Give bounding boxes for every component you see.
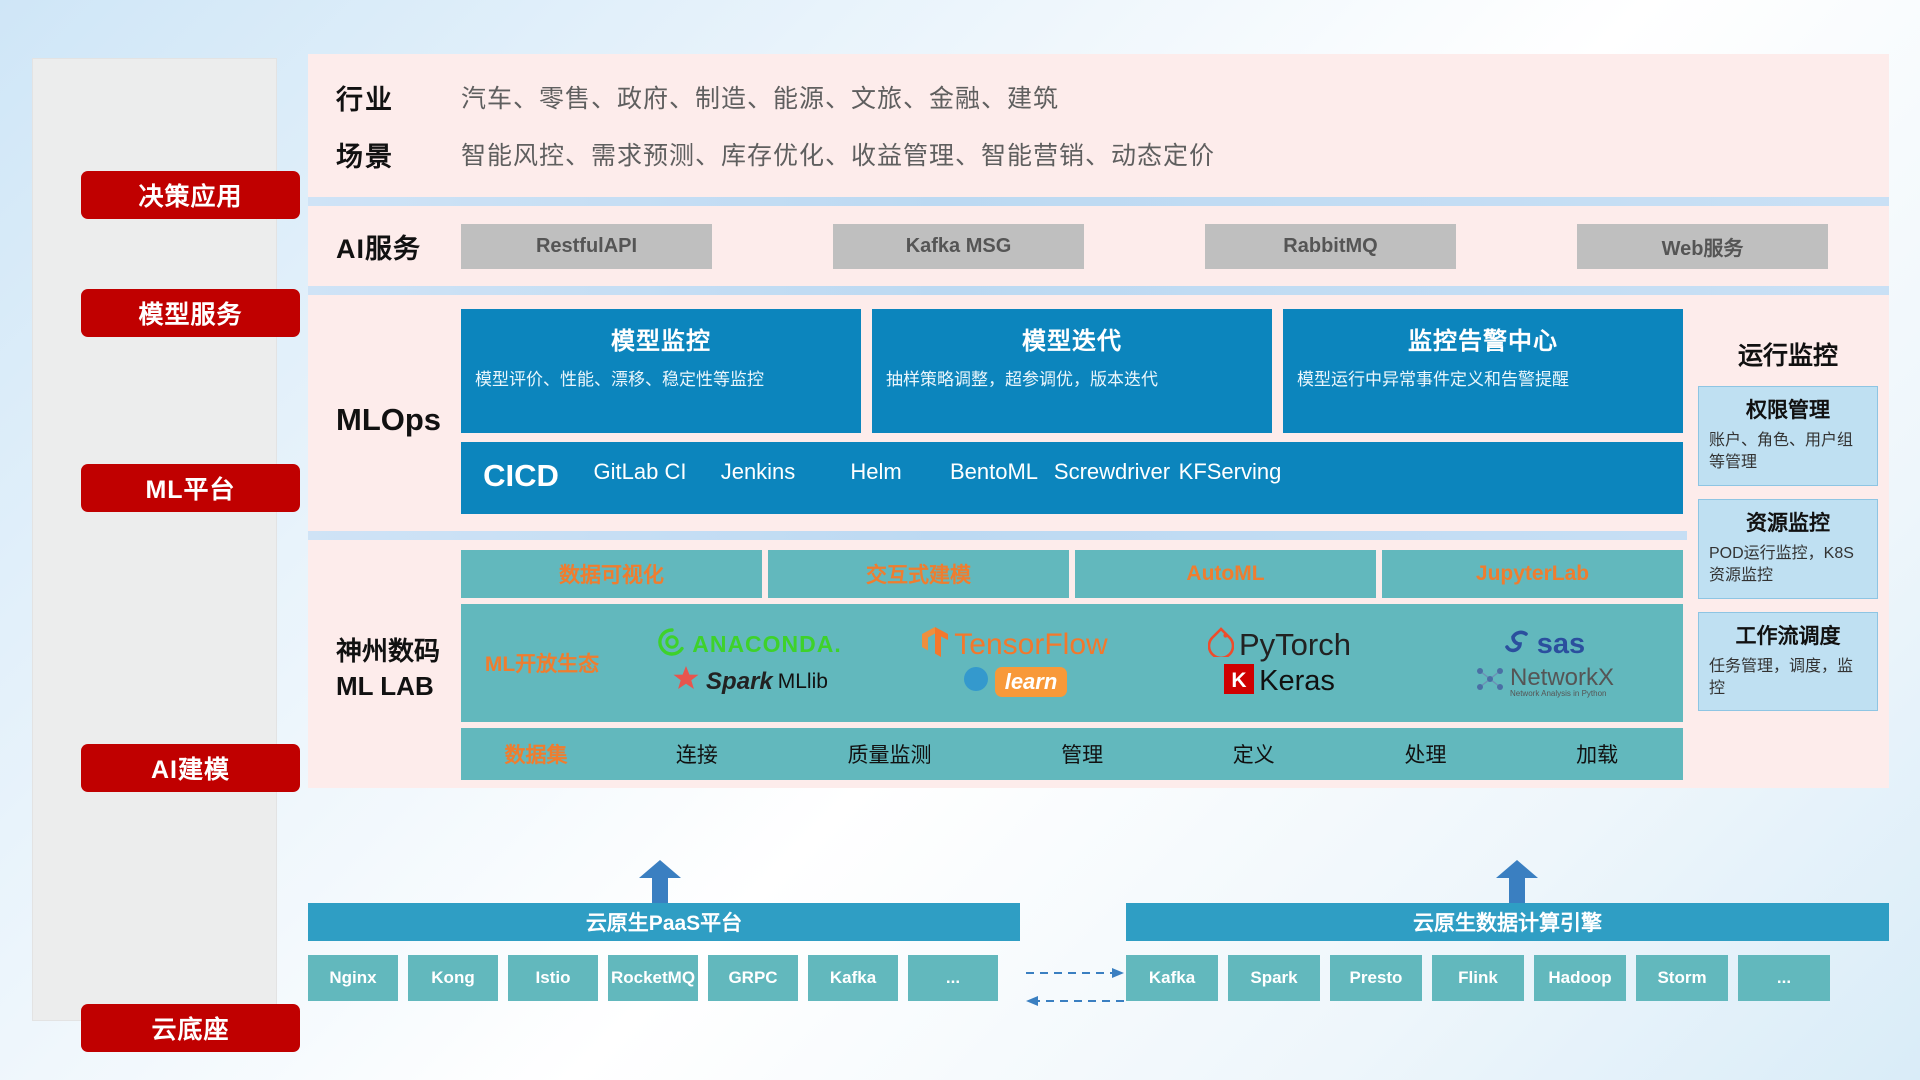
sidebar-item-decision-app[interactable]: 决策应用 — [81, 171, 300, 219]
dataset-item-process[interactable]: 处理 — [1404, 739, 1446, 769]
pytorch-icon — [1208, 627, 1234, 662]
chip-nginx[interactable]: Nginx — [308, 955, 398, 1001]
card-desc: 模型运行中异常事件定义和告警提醒 — [1297, 368, 1669, 393]
dataset-row: 数据集 连接 质量监测 管理 定义 处理 加载 — [461, 728, 1683, 780]
sidebar-item-ai-modeling[interactable]: AI建模 — [81, 744, 300, 792]
networkx-label: NetworkX — [1510, 665, 1614, 690]
cicd-item-helm[interactable]: Helm — [817, 458, 935, 486]
anaconda-icon — [657, 627, 687, 662]
scenario-row: 场景 智能风控、需求预测、库存优化、收益管理、智能营销、动态定价 — [336, 135, 1215, 174]
dataset-item-connect[interactable]: 连接 — [676, 739, 718, 769]
cloud-native-data-engine-bar[interactable]: 云原生数据计算引擎 — [1126, 903, 1889, 941]
anaconda-label: ANACONDA. — [692, 631, 842, 658]
dataset-item-quality-monitor[interactable]: 质量监测 — [847, 739, 931, 769]
scenario-key: 场景 — [336, 135, 461, 174]
cicd-item-jenkins[interactable]: Jenkins — [699, 458, 817, 486]
scikit-learn-icon — [962, 665, 990, 698]
mlops-card-alert-center[interactable]: 监控告警中心 模型运行中异常事件定义和告警提醒 — [1283, 309, 1683, 433]
networkx-logo: NetworkX Network Analysis in Python — [1412, 665, 1677, 699]
cicd-item-bentoml[interactable]: BentoML — [935, 458, 1053, 486]
card-title: 工作流调度 — [1709, 620, 1867, 650]
cloud-native-paas-bar[interactable]: 云原生PaaS平台 — [308, 903, 1020, 941]
monitor-card-permission[interactable]: 权限管理 账户、角色、用户组等管理 — [1698, 386, 1878, 486]
dashed-connector-icons — [1020, 963, 1130, 1013]
sidebar-item-label: 云底座 — [151, 1010, 229, 1046]
mlops-card-model-iteration[interactable]: 模型迭代 抽样策略调整，超参调优，版本迭代 — [872, 309, 1272, 433]
chip-rocketmq[interactable]: RocketMQ — [608, 955, 698, 1001]
chip-hadoop[interactable]: Hadoop — [1534, 955, 1626, 1001]
chip-flink[interactable]: Flink — [1432, 955, 1524, 1001]
mllab-tab-jupyterlab[interactable]: JupyterLab — [1382, 550, 1683, 598]
sas-icon — [1504, 628, 1532, 661]
spark-icon — [671, 665, 701, 698]
chip-kong[interactable]: Kong — [408, 955, 498, 1001]
anaconda-logo: ANACONDA. — [617, 627, 882, 662]
pytorch-logo: PyTorch — [1147, 627, 1412, 663]
dataset-item-manage[interactable]: 管理 — [1061, 739, 1103, 769]
sidebar-item-label: ML平台 — [145, 470, 235, 506]
chip-kafka-data[interactable]: Kafka — [1126, 955, 1218, 1001]
band-divider — [308, 197, 1889, 206]
left-layer-column: 决策应用 模型服务 ML平台 AI建模 云底座 — [32, 58, 277, 1021]
main-stack: 行业 汽车、零售、政府、制造、能源、文旅、金融、建筑 场景 智能风控、需求预测、… — [308, 54, 1889, 788]
band-ai-service: AI服务 RestfulAPI Kafka MSG RabbitMQ Web服务 — [308, 206, 1889, 286]
mllab-key-line1: 神州数码 — [336, 634, 440, 669]
card-desc: 账户、角色、用户组等管理 — [1709, 430, 1867, 475]
cicd-title: CICD — [461, 458, 581, 494]
chip-grpc[interactable]: GRPC — [708, 955, 798, 1001]
card-title: 模型迭代 — [886, 321, 1258, 356]
dataset-item-load[interactable]: 加载 — [1576, 739, 1618, 769]
chip-spark[interactable]: Spark — [1228, 955, 1320, 1001]
runtime-monitoring-panel: 运行监控 权限管理 账户、角色、用户组等管理 资源监控 POD运行监控，K8S资… — [1687, 320, 1889, 768]
tensorflow-logo: TensorFlow — [882, 626, 1147, 663]
chip-istio[interactable]: Istio — [508, 955, 598, 1001]
sas-label: sas — [1537, 628, 1585, 661]
mllab-key-line2: ML LAB — [336, 669, 440, 704]
card-desc: 模型评价、性能、漂移、稳定性等监控 — [475, 368, 847, 393]
tensorflow-label: TensorFlow — [954, 628, 1107, 662]
sidebar-item-model-service[interactable]: 模型服务 — [81, 289, 300, 337]
arrow-up-data-engine — [1496, 860, 1538, 904]
sidebar-item-cloud-base[interactable]: 云底座 — [81, 1004, 300, 1052]
sas-logo: sas — [1412, 628, 1677, 661]
card-desc: 抽样策略调整，超参调优，版本迭代 — [886, 368, 1258, 393]
ai-service-button-web-service[interactable]: Web服务 — [1577, 224, 1828, 269]
chip-kafka-paas[interactable]: Kafka — [808, 955, 898, 1001]
band-ml-lab: 神州数码 ML LAB 数据可视化 交互式建模 AutoML JupyterLa… — [308, 540, 1889, 788]
pytorch-label: PyTorch — [1239, 627, 1351, 663]
cloud-base-section: 云原生PaaS平台 云原生数据计算引擎 Nginx Kong Istio Roc… — [308, 903, 1889, 1043]
keras-icon: K — [1224, 664, 1254, 699]
mllab-tab-automl[interactable]: AutoML — [1075, 550, 1376, 598]
keras-logo: K Keras — [1147, 664, 1412, 699]
svg-text:K: K — [1232, 669, 1247, 692]
chip-storm[interactable]: Storm — [1636, 955, 1728, 1001]
sidebar-item-label: 模型服务 — [138, 295, 242, 331]
monitor-card-resource[interactable]: 资源监控 POD运行监控，K8S资源监控 — [1698, 499, 1878, 599]
sidebar-item-ml-platform[interactable]: ML平台 — [81, 464, 300, 512]
ai-service-key: AI服务 — [336, 227, 461, 266]
tensorflow-icon — [921, 626, 949, 663]
scikit-learn-label: learn — [995, 667, 1068, 697]
card-title: 监控告警中心 — [1297, 321, 1669, 356]
monitor-card-workflow[interactable]: 工作流调度 任务管理，调度，监控 — [1698, 612, 1878, 712]
ai-service-button-rabbitmq[interactable]: RabbitMQ — [1205, 224, 1456, 269]
mlops-card-model-monitoring[interactable]: 模型监控 模型评价、性能、漂移、稳定性等监控 — [461, 309, 861, 433]
ml-ecosystem-row: ML开放生态 ANACONDA. — [461, 604, 1683, 722]
networkx-sublabel: Network Analysis in Python — [1510, 690, 1614, 698]
scenario-value: 智能风控、需求预测、库存优化、收益管理、智能营销、动态定价 — [461, 136, 1215, 172]
industry-key: 行业 — [336, 78, 461, 117]
chip-presto[interactable]: Presto — [1330, 955, 1422, 1001]
dataset-item-define[interactable]: 定义 — [1233, 739, 1275, 769]
ai-service-button-restfulapi[interactable]: RestfulAPI — [461, 224, 712, 269]
chip-more-data[interactable]: ... — [1738, 955, 1830, 1001]
band-industry-scenario: 行业 汽车、零售、政府、制造、能源、文旅、金融、建筑 场景 智能风控、需求预测、… — [308, 54, 1889, 197]
keras-label: Keras — [1259, 665, 1335, 698]
arrow-up-paas — [639, 860, 681, 904]
mllab-tab-data-visualization[interactable]: 数据可视化 — [461, 550, 762, 598]
scikit-learn-logo: learn — [882, 665, 1147, 698]
band-divider — [308, 286, 1889, 295]
cicd-item-screwdriver[interactable]: Screwdriver — [1053, 458, 1171, 486]
architecture-diagram: 决策应用 模型服务 ML平台 AI建模 云底座 行业 汽车、零售、政府、制造、能… — [0, 0, 1920, 1080]
sidebar-item-label: AI建模 — [151, 750, 230, 786]
industry-value: 汽车、零售、政府、制造、能源、文旅、金融、建筑 — [461, 79, 1059, 115]
card-desc: POD运行监控，K8S资源监控 — [1709, 543, 1867, 588]
ai-service-button-kafka-msg[interactable]: Kafka MSG — [833, 224, 1084, 269]
industry-row: 行业 汽车、零售、政府、制造、能源、文旅、金融、建筑 — [336, 78, 1215, 117]
band-divider — [308, 531, 1889, 540]
card-desc: 任务管理，调度，监控 — [1709, 656, 1867, 701]
runtime-monitoring-title: 运行监控 — [1698, 336, 1878, 372]
cicd-row: CICD GitLab CI Jenkins Helm BentoML Scre… — [461, 442, 1683, 514]
cicd-item-kfserving[interactable]: KFServing — [1171, 458, 1289, 486]
networkx-icon — [1475, 665, 1505, 698]
paas-chip-row: Nginx Kong Istio RocketMQ GRPC Kafka ... — [308, 955, 998, 1001]
sidebar-item-label: 决策应用 — [138, 177, 242, 213]
spark-mllib-logo: Spark MLlib — [617, 665, 882, 698]
ml-ecosystem-label: ML开放生态 — [467, 648, 617, 678]
band-mlops: MLOps 模型监控 模型评价、性能、漂移、稳定性等监控 模型迭代 抽样策略调整… — [308, 295, 1889, 531]
mllab-key: 神州数码 ML LAB — [336, 550, 461, 788]
chip-more-paas[interactable]: ... — [908, 955, 998, 1001]
card-title: 权限管理 — [1709, 394, 1867, 424]
spark-label: Spark — [706, 668, 773, 696]
dataset-label: 数据集 — [461, 739, 611, 769]
data-engine-chip-row: Kafka Spark Presto Flink Hadoop Storm ..… — [1126, 955, 1830, 1001]
cicd-item-gitlab-ci[interactable]: GitLab CI — [581, 458, 699, 486]
mllib-label: MLlib — [778, 670, 828, 694]
card-title: 资源监控 — [1709, 507, 1867, 537]
mllab-tab-interactive-modeling[interactable]: 交互式建模 — [768, 550, 1069, 598]
card-title: 模型监控 — [475, 321, 847, 356]
mlops-key: MLOps — [336, 309, 461, 531]
